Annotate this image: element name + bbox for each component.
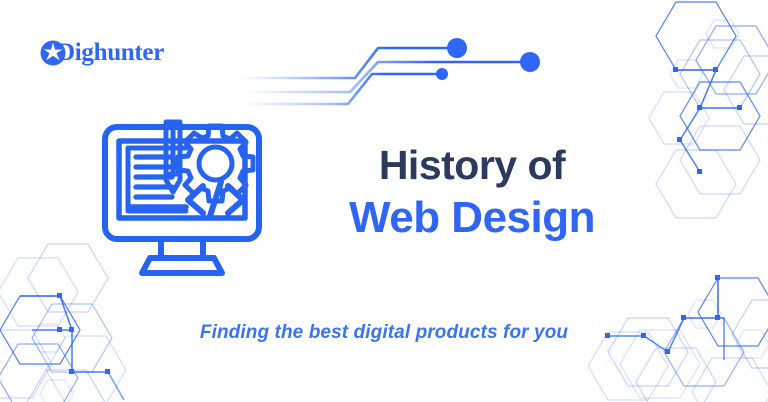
circuit-node-3 bbox=[436, 68, 448, 80]
page-title-line1: History of bbox=[332, 140, 612, 190]
circuit-node-2 bbox=[520, 52, 540, 72]
brand-logo[interactable]: Dighunter bbox=[40, 38, 164, 68]
page-title-line2: Web Design bbox=[332, 190, 612, 246]
circuit-node-1 bbox=[447, 38, 467, 58]
web-design-monitor-illustration bbox=[98, 112, 266, 280]
tagline: Finding the best digital products for yo… bbox=[0, 322, 768, 344]
star-badge-icon bbox=[40, 40, 66, 66]
banner-canvas: Dighunter bbox=[0, 0, 768, 402]
code-brackets-icon bbox=[188, 182, 243, 216]
headline-block: History of Web Design bbox=[332, 140, 612, 246]
brand-logo-text: Dighunter bbox=[57, 40, 164, 66]
